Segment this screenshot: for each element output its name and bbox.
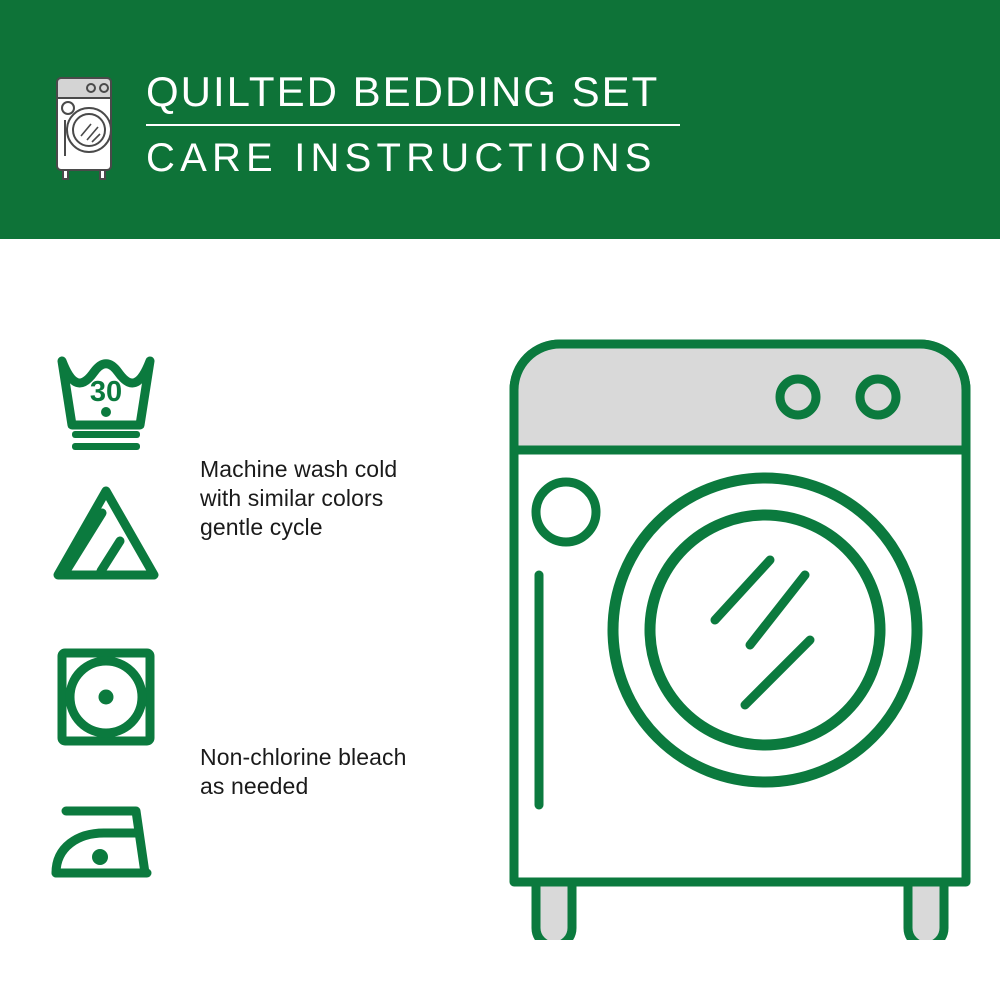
page-subtitle: CARE INSTRUCTIONS [146, 133, 686, 183]
care-instructions-page: QUILTED BEDDING SET CARE INSTRUCTIONS 30 [0, 0, 1000, 1000]
wash-temperature-label: 30 [90, 376, 122, 408]
title-divider [146, 124, 680, 126]
header-banner: QUILTED BEDDING SET CARE INSTRUCTIONS [0, 0, 1000, 239]
wash-tub-30-gentle-icon: 30 [48, 339, 164, 455]
instruction-list: 30 Machine wash cold with similar colors… [0, 239, 500, 1000]
washer-leg [908, 882, 944, 940]
iron-low-heat-icon [48, 789, 164, 905]
washer-leg [536, 882, 572, 940]
tumble-dry-low-heat-icon [48, 639, 164, 755]
non-chlorine-bleach-triangle-icon [48, 479, 164, 595]
list-item-label: Machine wash cold with similar colors ge… [200, 455, 397, 542]
header-title-block: QUILTED BEDDING SET CARE INSTRUCTIONS [146, 66, 686, 183]
page-title: QUILTED BEDDING SET [146, 66, 686, 118]
washing-machine-icon [48, 72, 120, 182]
list-item-label: Non-chlorine bleach as needed [200, 743, 406, 801]
front-load-washing-machine-illustration [500, 330, 980, 940]
